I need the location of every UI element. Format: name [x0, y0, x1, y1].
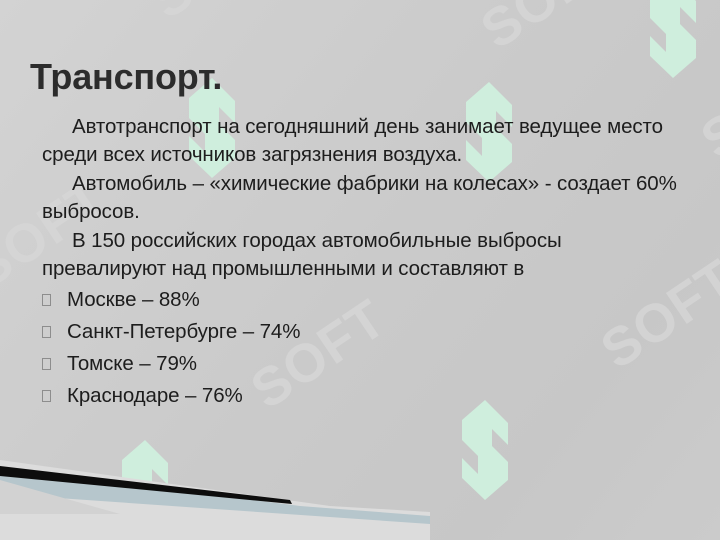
- slide-bottom-decoration: [0, 460, 430, 540]
- empty-box-bullet-icon: [42, 294, 51, 306]
- empty-box-bullet-icon: [42, 390, 51, 402]
- list-item: Томске – 79%: [42, 348, 687, 380]
- soft-logo-mark-icon: [448, 400, 522, 500]
- watermark-text: SOFT: [690, 37, 720, 171]
- empty-box-bullet-icon: [42, 358, 51, 370]
- list-item-label: Санкт-Петербурге – 74%: [67, 316, 687, 348]
- list-item: Краснодаре – 76%: [42, 380, 687, 412]
- watermark-text: SOFT: [140, 0, 297, 31]
- empty-box-bullet-icon: [42, 326, 51, 338]
- list-item-label: Краснодаре – 76%: [67, 380, 687, 412]
- list-item-label: Москве – 88%: [67, 284, 687, 316]
- list-item: Москве – 88%: [42, 284, 687, 316]
- body-paragraph-2: Автомобиль – «химические фабрики на коле…: [42, 170, 687, 226]
- watermark-text: SOFT: [470, 0, 627, 61]
- presentation-slide: SOFT SOFT SOFT SOFT SOFT SOFT: [0, 0, 720, 540]
- body-paragraph-1: Автотранспорт на сегодняшний день занима…: [42, 113, 687, 169]
- list-item-label: Томске – 79%: [67, 348, 687, 380]
- soft-logo-mark-icon: [108, 440, 182, 540]
- slide-body: Автотранспорт на сегодняшний день занима…: [42, 113, 687, 412]
- page-title: Транспорт.: [30, 57, 222, 97]
- list-item: Санкт-Петербурге – 74%: [42, 316, 687, 348]
- body-paragraph-3: В 150 российских городах автомобильные в…: [42, 227, 687, 283]
- city-emissions-list: Москве – 88% Санкт-Петербурге – 74% Томс…: [42, 284, 687, 412]
- soft-logo-mark-icon: [636, 0, 710, 78]
